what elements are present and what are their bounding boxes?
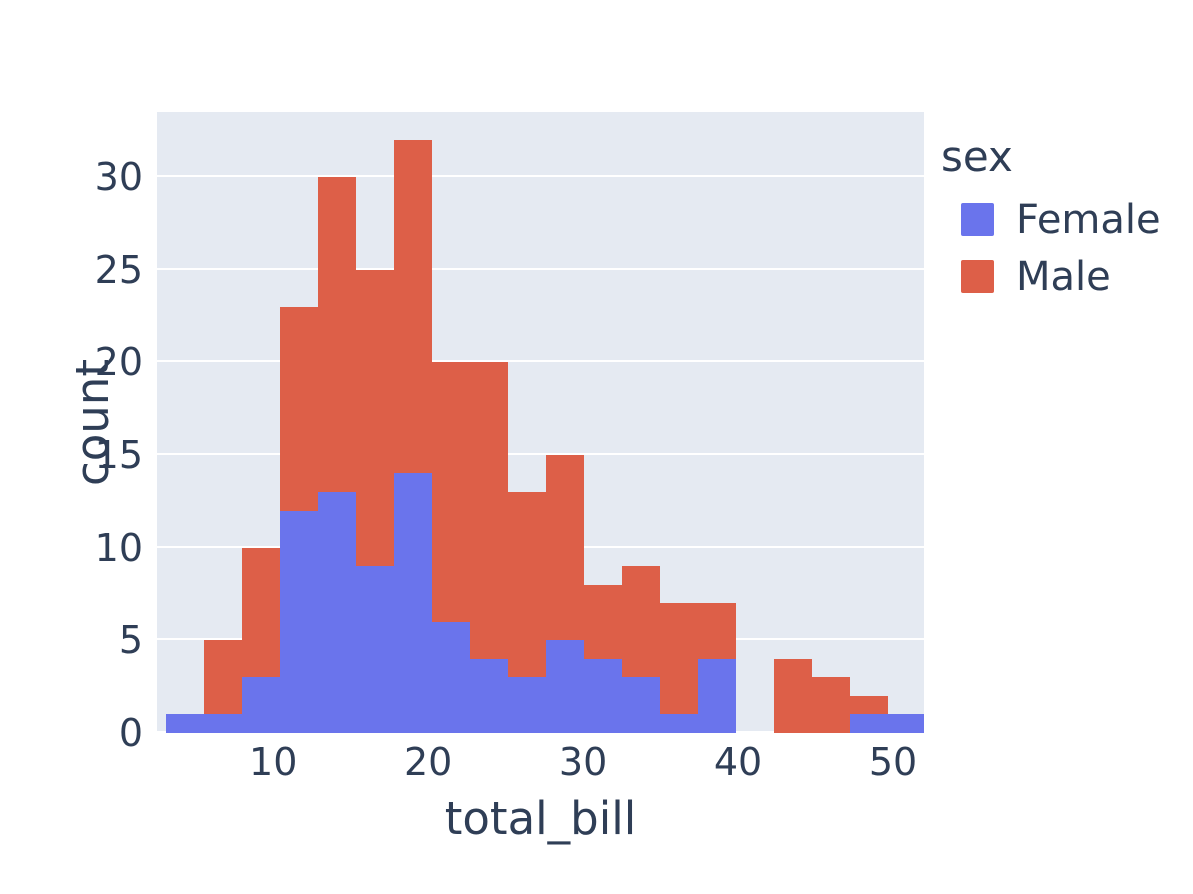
bar-segment-female [850, 714, 888, 733]
bar-segment-male [356, 270, 394, 567]
bar-segment-male [774, 659, 812, 733]
legend-swatch-male-icon [961, 260, 994, 293]
bar-segment-female [394, 473, 432, 733]
legend-title: sex [941, 132, 1181, 181]
y-tick-label: 15 [85, 433, 143, 477]
bar-segment-female [166, 714, 204, 733]
bar-segment-male [660, 603, 698, 714]
bar-segment-male [318, 177, 356, 492]
bar-segment-male [508, 492, 546, 677]
bar-segment-male [470, 362, 508, 659]
bar-segment-female [432, 622, 470, 733]
bar-segment-male [280, 307, 318, 511]
x-tick-label: 50 [848, 740, 938, 784]
y-tick-label: 5 [85, 618, 143, 662]
legend-item-male[interactable]: Male [941, 248, 1181, 305]
y-tick-label: 20 [85, 340, 143, 384]
gridline [157, 268, 924, 270]
y-tick-label: 10 [85, 526, 143, 570]
gridline [157, 175, 924, 177]
plot-area [157, 112, 924, 733]
bar-segment-male [850, 696, 888, 715]
bar-segment-female [546, 640, 584, 733]
bar-segment-male [242, 548, 280, 678]
bar-segment-female [242, 677, 280, 733]
x-tick-label: 20 [383, 740, 473, 784]
x-axis-label: total_bill [157, 792, 924, 845]
gridline [157, 360, 924, 362]
bar-segment-female [584, 659, 622, 733]
gridline [157, 453, 924, 455]
bar-segment-male [812, 677, 850, 733]
x-tick-label: 40 [693, 740, 783, 784]
bar-segment-female [660, 714, 698, 733]
bar-segment-male [204, 640, 242, 714]
legend-label-female: Female [1016, 197, 1161, 243]
y-tick-label: 30 [85, 155, 143, 199]
legend: sex Female Male [941, 132, 1181, 305]
bar-segment-male [432, 362, 470, 622]
bar-segment-female [318, 492, 356, 733]
x-tick-label: 30 [538, 740, 628, 784]
legend-item-female[interactable]: Female [941, 191, 1181, 248]
bar-segment-female [508, 677, 546, 733]
histogram-figure: count 051015202530 1020304050 total_bill… [0, 0, 1193, 894]
y-tick-label: 25 [85, 248, 143, 292]
legend-swatch-female-icon [961, 203, 994, 236]
bar-segment-female [698, 659, 736, 733]
bar-segment-female [470, 659, 508, 733]
bar-segment-male [394, 140, 432, 474]
bar-segment-male [584, 585, 622, 659]
bar-segment-female [622, 677, 660, 733]
x-tick-label: 10 [228, 740, 318, 784]
legend-label-male: Male [1016, 254, 1111, 300]
y-tick-label: 0 [85, 711, 143, 755]
bar-segment-male [546, 455, 584, 640]
bar-segment-female [888, 714, 924, 733]
bar-segment-male [698, 603, 736, 659]
bar-segment-female [204, 714, 242, 733]
bar-segment-female [356, 566, 394, 733]
bar-segment-male [622, 566, 660, 677]
bar-segment-female [280, 511, 318, 733]
